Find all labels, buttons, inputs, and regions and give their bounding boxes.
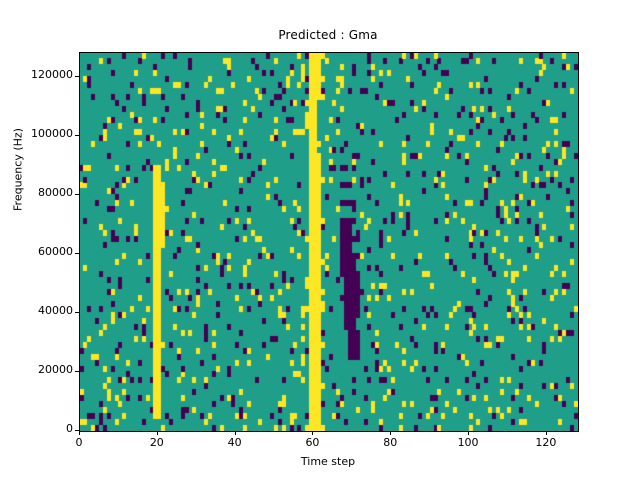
x-tick-label: 20 [150,436,164,449]
x-tick-label: 40 [228,436,242,449]
y-tick-mark [75,76,79,77]
x-tick-mark [235,431,236,435]
y-tick-label: 0 [0,422,73,435]
y-tick-label: 100000 [0,127,73,140]
y-tick-label: 20000 [0,363,73,376]
y-tick-mark [75,371,79,372]
y-tick-label: 120000 [0,68,73,81]
x-tick-mark [468,431,469,435]
x-tick-label: 60 [305,436,319,449]
y-tick-label: 40000 [0,304,73,317]
x-tick-mark [390,431,391,435]
x-tick-label: 0 [76,436,83,449]
x-tick-label: 100 [458,436,479,449]
x-tick-label: 120 [535,436,556,449]
x-axis-label: Time step [79,455,577,468]
page-title: Predicted : Gma [79,28,577,42]
x-tick-mark [312,431,313,435]
y-axis-label: Frequency (Hz) [12,90,25,250]
y-tick-mark [75,312,79,313]
heatmap-axes[interactable] [79,52,579,432]
x-tick-mark [546,431,547,435]
y-tick-label: 80000 [0,186,73,199]
y-tick-mark [75,430,79,431]
y-tick-mark [75,253,79,254]
y-tick-mark [75,135,79,136]
y-tick-mark [75,194,79,195]
x-tick-label: 80 [383,436,397,449]
heatmap-canvas [80,53,578,431]
x-tick-mark [79,431,80,435]
matplotlib-figure: Predicted : Gma Frequency (Hz) Time step… [0,0,640,480]
y-tick-label: 60000 [0,245,73,258]
x-tick-mark [157,431,158,435]
